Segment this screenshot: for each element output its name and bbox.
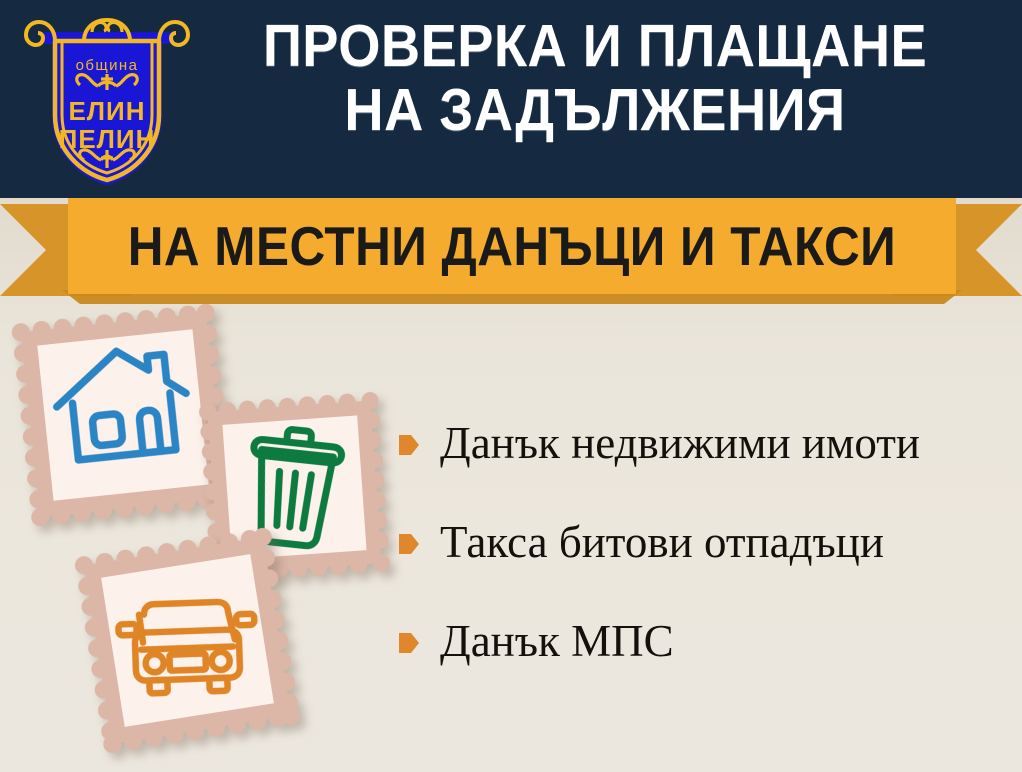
page-title-line-2: НА ЗАДЪЛЖЕНИЯ — [209, 78, 982, 142]
list-item[interactable]: Данък МПС — [398, 616, 1018, 666]
subtitle-ribbon: НА МЕСТНИ ДАНЪЦИ И ТАКСИ — [0, 196, 1022, 308]
stamp-group — [0, 300, 420, 770]
tax-type-list: Данък недвижими имоти Такса битови отпад… — [398, 418, 1018, 666]
list-item-label: Данък недвижими имоти — [440, 418, 920, 468]
logo-text-obshtina: община — [76, 57, 139, 74]
poster-root: Данък недвижими имоти Такса битови отпад… — [0, 0, 1022, 772]
header-banner: община ЕЛИН ПЕЛИН — [0, 0, 1022, 198]
ribbon-panel: НА МЕСТНИ ДАНЪЦИ И ТАКСИ — [68, 198, 956, 294]
logo-text-elin: ЕЛИН — [68, 96, 145, 126]
logo-text-pelin: ПЕЛИН — [59, 124, 156, 154]
arrow-right-icon — [398, 531, 420, 557]
page-title-line-1: ПРОВЕРКА И ПЛАЩАНЕ — [209, 14, 982, 78]
list-item-label: Данък МПС — [440, 616, 674, 666]
list-item[interactable]: Такса битови отпадъци — [398, 517, 1018, 567]
list-item-label: Такса битови отпадъци — [440, 517, 884, 567]
stamp-vehicle-car — [70, 523, 305, 758]
stamp-perforated-edge — [74, 527, 302, 755]
arrow-right-icon — [398, 432, 420, 458]
list-item[interactable]: Данък недвижими имоти — [398, 418, 1018, 468]
municipality-logo: община ЕЛИН ПЕЛИН — [22, 8, 192, 190]
page-title: ПРОВЕРКА И ПЛАЩАНЕ НА ЗАДЪЛЖЕНИЯ — [175, 14, 1015, 142]
ribbon-label: НА МЕСТНИ ДАНЪЦИ И ТАКСИ — [128, 217, 897, 275]
arrow-right-icon — [398, 630, 420, 656]
